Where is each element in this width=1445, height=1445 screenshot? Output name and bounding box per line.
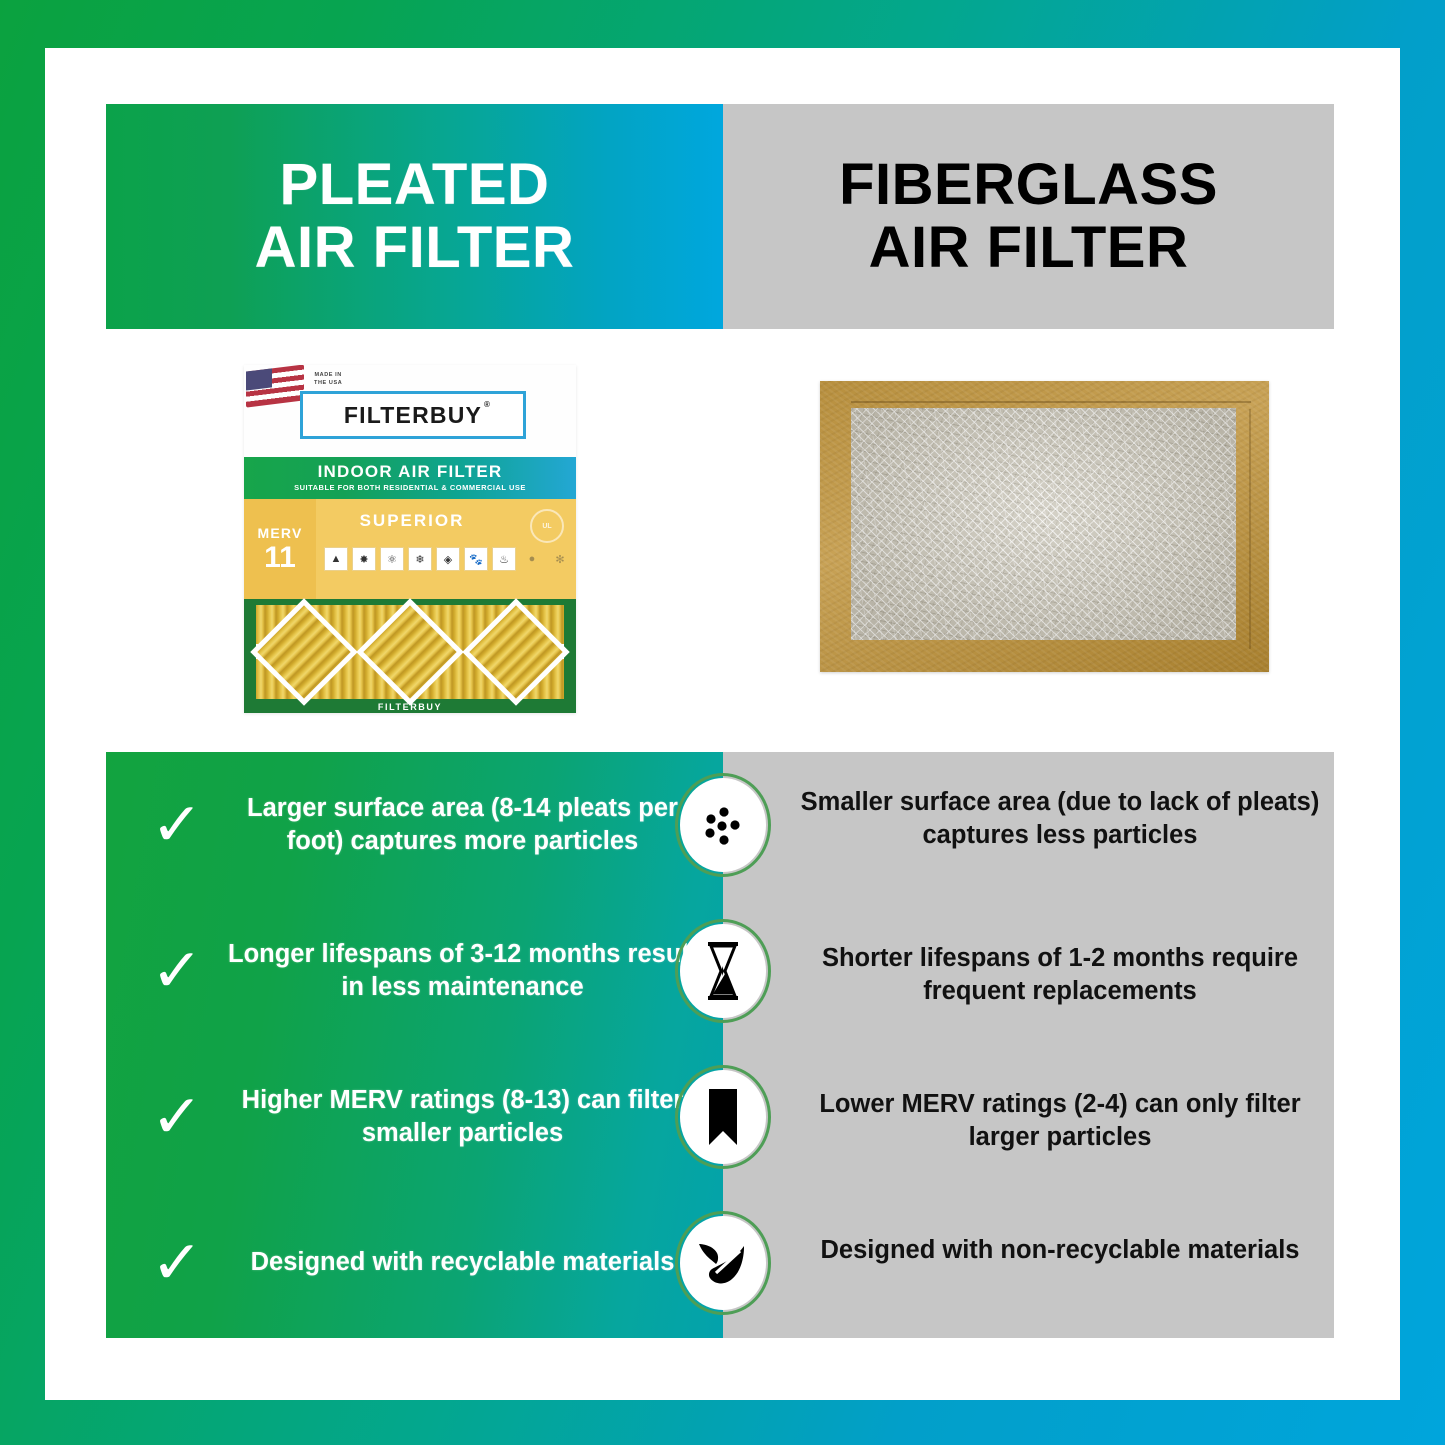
- comparison-row: ✓ Larger surface area (8-14 pleats per f…: [106, 752, 1334, 898]
- header-fiberglass-line2: AIR FILTER: [869, 215, 1189, 280]
- box-band-subtitle: SUITABLE FOR BOTH RESIDENTIAL & COMMERCI…: [244, 483, 576, 492]
- smoke-icon: ♨: [492, 547, 516, 571]
- bookmark-icon: [675, 1065, 771, 1169]
- virus-icon: ⚛: [380, 547, 404, 571]
- cardboard-seam-top: [851, 401, 1251, 403]
- merv-label: MERV: [244, 499, 316, 541]
- merv-badge: MERV 11: [244, 499, 316, 599]
- row-left-text: Higher MERV ratings (8-13) can filter sm…: [220, 1084, 723, 1150]
- row-left-content: ✓ Designed with recyclable materials: [106, 1190, 723, 1336]
- made-in-usa-text: MADE IN THE USA: [314, 371, 342, 388]
- box-filter-media-area: FILTERBUY: [244, 599, 576, 713]
- checkmark-icon: ✓: [132, 1233, 222, 1293]
- support-diamond: [462, 598, 569, 705]
- fiberglass-mesh: [851, 408, 1236, 640]
- particles-icon: [675, 773, 771, 877]
- box-footer-brand: FILTERBUY: [244, 702, 576, 712]
- row-left-text: Designed with recyclable materials: [220, 1246, 723, 1279]
- header-row: PLEATED AIR FILTER FIBERGLASS AIR FILTER: [106, 104, 1334, 329]
- leaf-recycle-icon: [675, 1211, 771, 1315]
- row-left-content: ✓ Higher MERV ratings (8-13) can filter …: [106, 1044, 723, 1190]
- header-fiberglass-line1: FIBERGLASS: [839, 152, 1218, 217]
- support-diamond: [356, 598, 463, 705]
- row-right-text: Smaller surface area (due to lack of ple…: [786, 786, 1334, 852]
- allergen-icon: ✻: [548, 547, 572, 571]
- product-image-band: MADE IN THE USA FILTERBUY® INDOOR AIR FI…: [106, 329, 1334, 752]
- box-gradient-band: INDOOR AIR FILTER SUITABLE FOR BOTH RESI…: [244, 457, 576, 499]
- checkmark-icon: ✓: [132, 795, 222, 855]
- box-gold-section: MERV 11 SUPERIOR UL ▲ ✸ ⚛ ❄ ◈ 🐾 ♨ ● ✻: [244, 499, 576, 599]
- bacteria-icon: ✸: [352, 547, 376, 571]
- pet-dander-icon: 🐾: [464, 547, 488, 571]
- fiberglass-filter-image: [820, 381, 1269, 672]
- brand-logo-frame: FILTERBUY®: [300, 391, 526, 439]
- mold-icon: ◈: [436, 547, 460, 571]
- checkmark-icon: ✓: [132, 1087, 222, 1147]
- row-left-text: Longer lifespans of 3-12 months result i…: [220, 938, 723, 1004]
- comparison-row: ✓ Longer lifespans of 3-12 months result…: [106, 898, 1334, 1044]
- trademark-symbol: ®: [484, 400, 491, 409]
- cardboard-seam-right: [1249, 409, 1251, 649]
- row-left-content: ✓ Larger surface area (8-14 pleats per f…: [106, 752, 723, 898]
- box-band-title: INDOOR AIR FILTER: [244, 457, 576, 482]
- ul-certification-icon: UL: [530, 509, 564, 543]
- box-feature-icon-row: ▲ ✸ ⚛ ❄ ◈ 🐾 ♨ ● ✻: [324, 547, 572, 571]
- pollen-icon: ❄: [408, 547, 432, 571]
- comparison-row: ✓ Designed with recyclable materials Des…: [106, 1190, 1334, 1336]
- row-right-text: Shorter lifespans of 1-2 months require …: [786, 942, 1334, 1008]
- brand-name: FILTERBUY®: [344, 402, 482, 429]
- pleated-media: [256, 605, 564, 699]
- support-diamond: [250, 598, 357, 705]
- header-pleated: PLEATED AIR FILTER: [106, 104, 723, 329]
- header-pleated-line2: AIR FILTER: [255, 215, 575, 280]
- row-left-content: ✓ Longer lifespans of 3-12 months result…: [106, 898, 723, 1044]
- merv-value: 11: [244, 543, 316, 573]
- row-right-text: Lower MERV ratings (2-4) can only filter…: [786, 1088, 1334, 1154]
- row-left-text: Larger surface area (8-14 pleats per foo…: [220, 792, 723, 858]
- header-pleated-line1: PLEATED: [280, 152, 550, 217]
- usa-flag-icon: [246, 365, 304, 408]
- header-fiberglass: FIBERGLASS AIR FILTER: [723, 104, 1334, 329]
- filterbuy-box-image: MADE IN THE USA FILTERBUY® INDOOR AIR FI…: [244, 365, 576, 713]
- dust-icon: ▲: [324, 547, 348, 571]
- box-top-white-area: MADE IN THE USA FILTERBUY®: [244, 365, 576, 457]
- row-right-text: Designed with non-recyclable materials: [786, 1234, 1334, 1267]
- comparison-section: ✓ Larger surface area (8-14 pleats per f…: [106, 752, 1334, 1338]
- checkmark-icon: ✓: [132, 941, 222, 1001]
- grade-label: SUPERIOR: [322, 511, 502, 531]
- lint-icon: ●: [520, 547, 544, 571]
- comparison-row: ✓ Higher MERV ratings (8-13) can filter …: [106, 1044, 1334, 1190]
- hourglass-icon: [675, 919, 771, 1023]
